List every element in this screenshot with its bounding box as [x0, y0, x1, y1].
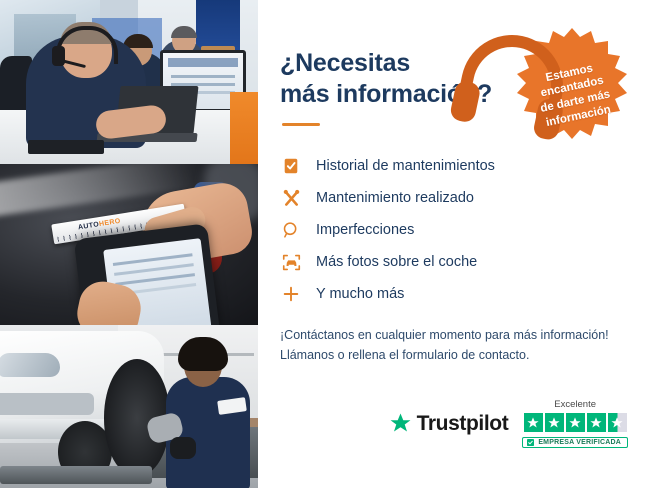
trustpilot-rating-label: Excelente: [554, 399, 596, 410]
car-inspection-ruler-photo: AUTOHERO: [0, 164, 258, 325]
content-panel: ¿Necesitas más información? Estamos enca…: [258, 0, 650, 488]
car-headlight: [0, 353, 60, 377]
star-3: [566, 413, 585, 432]
list-item: Y mucho más: [280, 278, 628, 310]
trustpilot-star-icon: [389, 412, 412, 435]
star-2: [545, 413, 564, 432]
trustpilot-widget[interactable]: Trustpilot Excelente: [389, 399, 628, 448]
feature-list: Historial de mantenimientos Mantenimient…: [280, 150, 628, 310]
trustpilot-wordmark: Trustpilot: [417, 412, 509, 436]
list-item-label: Historial de mantenimientos: [316, 158, 495, 174]
list-item-label: Imperfecciones: [316, 222, 414, 238]
verified-company-badge: EMPRESA VERIFICADA: [522, 437, 628, 448]
support-badge: Estamos encantados de darte más informac…: [512, 26, 632, 146]
star-5-half: [608, 413, 627, 432]
car-lift-arm: [0, 466, 152, 484]
contact-copy: ¡Contáctanos en cualquier momento para m…: [280, 326, 628, 366]
call-center-agents-photo: [0, 0, 258, 164]
magnifier-icon: [280, 219, 302, 241]
trustpilot-logo: Trustpilot: [389, 412, 509, 436]
orange-equipment: [230, 92, 258, 164]
trustpilot-stars: [524, 413, 627, 432]
car-photo-scan-icon: [280, 251, 302, 273]
title-divider: [282, 123, 320, 126]
list-item-label: Mantenimiento realizado: [316, 190, 474, 206]
star-1: [524, 413, 543, 432]
mechanic-hair: [178, 337, 228, 371]
list-item: Historial de mantenimientos: [280, 150, 628, 182]
mechanic-glove-dark: [170, 437, 196, 459]
list-item: Más fotos sobre el coche: [280, 246, 628, 278]
list-item: Imperfecciones: [280, 214, 628, 246]
badge-text: Estamos encantados de darte más informac…: [533, 59, 615, 131]
trustpilot-rating-block: Excelente: [522, 399, 628, 448]
page-title-line-1: ¿Necesitas: [280, 49, 410, 77]
list-item: Mantenimiento realizado: [280, 182, 628, 214]
info-promo-card: AUTOHERO: [0, 0, 650, 488]
car-grille: [0, 393, 94, 415]
star-4: [587, 413, 606, 432]
verified-check-icon: [527, 439, 534, 446]
crossed-tools-icon: [280, 187, 302, 209]
contact-copy-line-2: Llámanos o rellena el formulario de cont…: [280, 348, 529, 362]
clipboard-check-icon: [280, 155, 302, 177]
list-item-label: Y mucho más: [316, 286, 404, 302]
list-item-label: Más fotos sobre el coche: [316, 254, 477, 270]
keyboard: [28, 140, 104, 154]
plus-icon: [280, 283, 302, 305]
contact-copy-line-1: ¡Contáctanos en cualquier momento para m…: [280, 328, 609, 342]
photo-column: AUTOHERO: [0, 0, 258, 488]
verified-company-label: EMPRESA VERIFICADA: [538, 439, 621, 446]
agent-headset-earcup: [52, 46, 65, 66]
mechanic-wheel-check-photo: [0, 325, 258, 488]
badge-text-block: Estamos encantados de darte más informac…: [501, 15, 643, 157]
